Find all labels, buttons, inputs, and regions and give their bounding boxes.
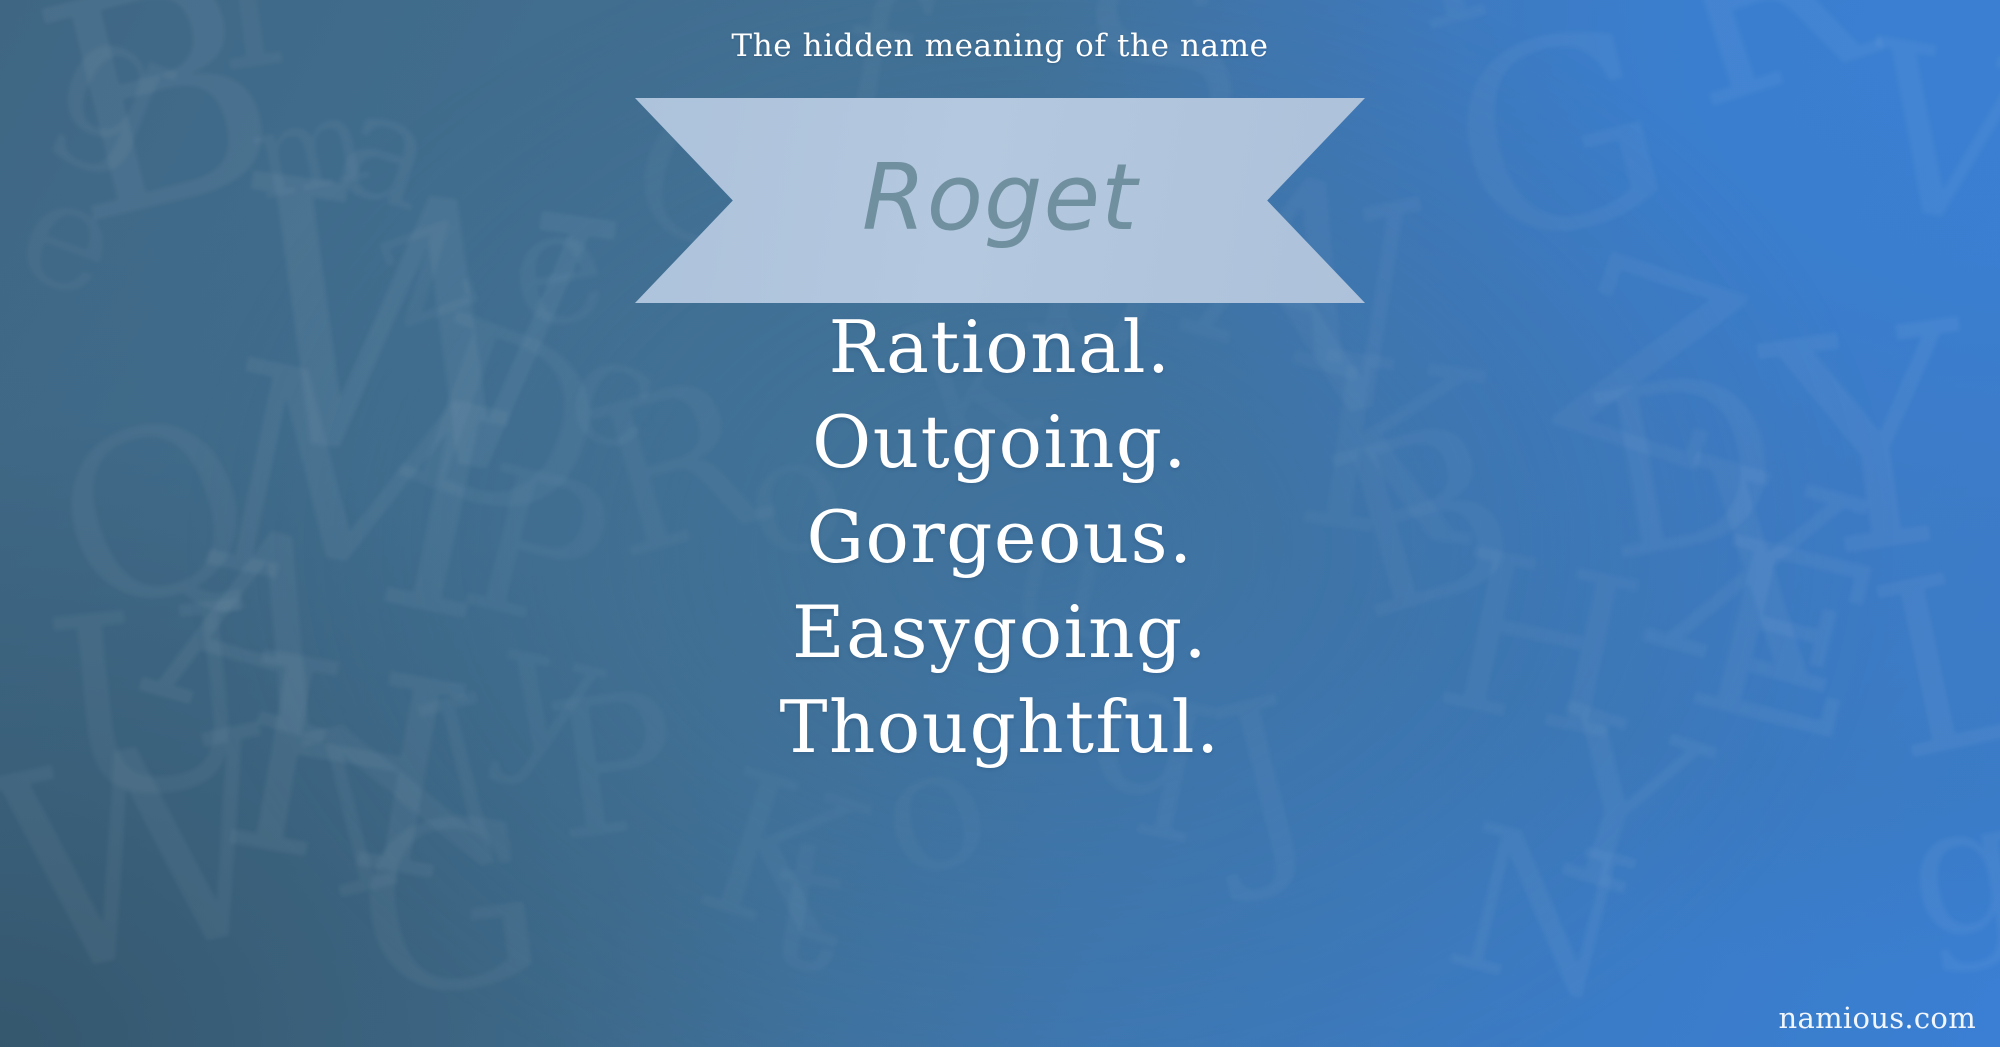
name-meaning-card: BWglamMQAUHNDzPecRyPKofkbSAVKBHGZDERVYXL…	[0, 0, 2000, 1047]
trait-line: Rational.	[0, 300, 2000, 395]
trait-line: Outgoing.	[0, 395, 2000, 490]
page-headline: The hidden meaning of the name	[0, 28, 2000, 64]
name-title: Roget	[635, 98, 1365, 303]
name-ribbon-banner: Roget	[635, 98, 1365, 303]
trait-line: Easygoing.	[0, 585, 2000, 680]
trait-line: Gorgeous.	[0, 490, 2000, 585]
trait-line: Thoughtful.	[0, 680, 2000, 775]
trait-list: Rational.Outgoing.Gorgeous.Easygoing.Tho…	[0, 300, 2000, 775]
site-watermark: namious.com	[1779, 1001, 1976, 1035]
